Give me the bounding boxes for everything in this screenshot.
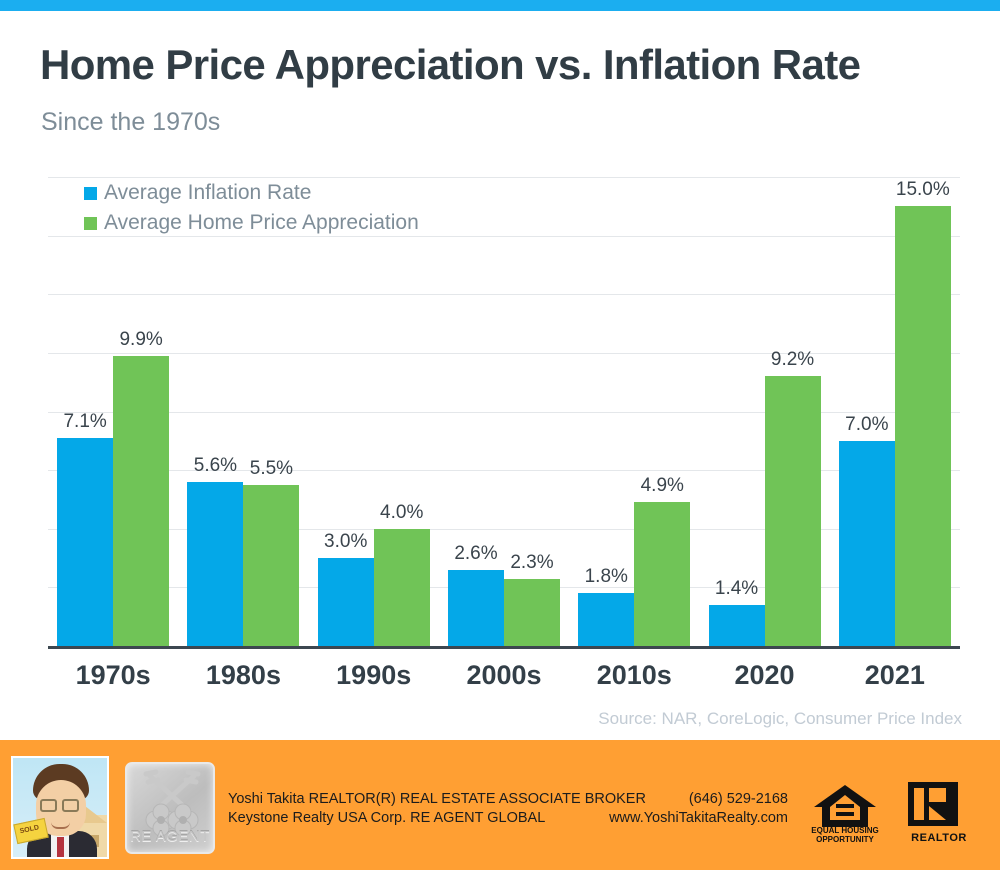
bar-value-label: 15.0%	[896, 179, 950, 201]
chart-source-note: Source: NAR, CoreLogic, Consumer Price I…	[598, 709, 962, 729]
bar-value-label: 1.4%	[715, 578, 758, 600]
agent-avatar: SOLD	[11, 756, 109, 859]
bar-value-label: 9.2%	[771, 349, 814, 371]
bar-1990s-inflation[interactable]: 3.0%	[318, 177, 374, 646]
x-axis-label-2000s: 2000s	[439, 660, 569, 691]
equal-housing-house-icon	[810, 782, 880, 830]
bar-rect	[709, 605, 765, 646]
bar-1980s-inflation[interactable]: 5.6%	[187, 177, 243, 646]
bar-value-label: 2.3%	[510, 552, 553, 574]
chart-baseline-axis	[48, 646, 960, 649]
legend-swatch-icon	[84, 217, 97, 230]
bar-2021-inflation[interactable]: 7.0%	[839, 177, 895, 646]
bar-2021-hpa[interactable]: 15.0%	[895, 177, 951, 646]
page-title: Home Price Appreciation vs. Inflation Ra…	[40, 41, 860, 89]
bar-2020-inflation[interactable]: 1.4%	[709, 177, 765, 646]
legend-label: Average Home Price Appreciation	[104, 211, 419, 235]
legend-item-1[interactable]: Average Home Price Appreciation	[84, 208, 419, 238]
avatar-tie	[57, 837, 64, 857]
bar-1990s-hpa[interactable]: 4.0%	[374, 177, 430, 646]
agent-name-title: Yoshi Takita REALTOR(R) REAL ESTATE ASSO…	[228, 790, 646, 809]
bar-rect	[839, 441, 895, 646]
chart-bar-groups: 7.1%9.9%5.6%5.5%3.0%4.0%2.6%2.3%1.8%4.9%…	[48, 177, 960, 646]
x-axis-label-2010s: 2010s	[569, 660, 699, 691]
bar-rect	[318, 558, 374, 646]
chart-x-axis: 1970s1980s1990s2000s2010s20202021	[48, 660, 960, 691]
bar-group-2000s: 2.6%2.3%	[439, 177, 569, 646]
bar-value-label: 3.0%	[324, 531, 367, 553]
bar-value-label: 4.9%	[641, 475, 684, 497]
realtor-r-icon	[908, 782, 958, 828]
bar-rect	[374, 529, 430, 646]
bar-2010s-inflation[interactable]: 1.8%	[578, 177, 634, 646]
top-accent-bar	[0, 0, 1000, 11]
chart-legend: Average Inflation RateAverage Home Price…	[84, 178, 419, 238]
legend-item-0[interactable]: Average Inflation Rate	[84, 178, 419, 208]
bar-rect	[243, 485, 299, 646]
agent-phone[interactable]: (646) 529-2168	[689, 790, 788, 809]
page-subtitle: Since the 1970s	[41, 108, 220, 137]
bar-group-1990s: 3.0%4.0%	[309, 177, 439, 646]
infographic-page: Home Price Appreciation vs. Inflation Ra…	[0, 0, 1000, 870]
bar-rect	[765, 376, 821, 646]
bar-group-2021: 7.0%15.0%	[830, 177, 960, 646]
bar-value-label: 2.6%	[454, 543, 497, 565]
x-axis-label-2021: 2021	[830, 660, 960, 691]
bar-value-label: 7.1%	[63, 411, 106, 433]
re-agent-logo: RE AGENT	[125, 762, 215, 854]
bar-value-label: 7.0%	[845, 414, 888, 436]
agent-brokerage: Keystone Realty USA Corp. RE AGENT GLOBA…	[228, 809, 545, 828]
bar-value-label: 5.5%	[250, 458, 293, 480]
bar-rect	[187, 482, 243, 646]
bar-group-2020: 1.4%9.2%	[699, 177, 829, 646]
sold-sign-label: SOLD	[19, 824, 39, 835]
x-axis-label-1990s: 1990s	[309, 660, 439, 691]
bar-group-2010s: 1.8%4.9%	[569, 177, 699, 646]
bar-rect	[57, 438, 113, 646]
agent-contact-info: Yoshi Takita REALTOR(R) REAL ESTATE ASSO…	[228, 790, 788, 828]
equal-housing-opportunity-logo: EQUAL HOUSING OPPORTUNITY	[810, 782, 880, 844]
bar-1970s-hpa[interactable]: 9.9%	[113, 177, 169, 646]
legend-label: Average Inflation Rate	[104, 181, 311, 205]
bar-value-label: 5.6%	[194, 455, 237, 477]
equal-housing-caption: EQUAL HOUSING OPPORTUNITY	[810, 826, 880, 844]
bar-rect	[504, 579, 560, 646]
bar-value-label: 4.0%	[380, 502, 423, 524]
bar-2000s-hpa[interactable]: 2.3%	[504, 177, 560, 646]
bar-1970s-inflation[interactable]: 7.1%	[57, 177, 113, 646]
x-axis-label-1970s: 1970s	[48, 660, 178, 691]
bar-1980s-hpa[interactable]: 5.5%	[243, 177, 299, 646]
bar-rect	[895, 206, 951, 646]
legend-swatch-icon	[84, 187, 97, 200]
bar-value-label: 9.9%	[119, 329, 162, 351]
bar-group-1980s: 5.6%5.5%	[178, 177, 308, 646]
bar-2000s-inflation[interactable]: 2.6%	[448, 177, 504, 646]
bar-2010s-hpa[interactable]: 4.9%	[634, 177, 690, 646]
bar-rect	[448, 570, 504, 646]
bar-rect	[634, 502, 690, 646]
bar-group-1970s: 7.1%9.9%	[48, 177, 178, 646]
bar-rect	[113, 356, 169, 646]
avatar-glasses-right-icon	[62, 799, 79, 812]
avatar-glasses-left-icon	[40, 799, 57, 812]
realtor-caption: REALTOR	[908, 832, 970, 844]
re-agent-logo-label: RE AGENT	[127, 828, 213, 845]
bar-rect	[578, 593, 634, 646]
bar-2020-hpa[interactable]: 9.2%	[765, 177, 821, 646]
agent-website[interactable]: www.YoshiTakitaRealty.com	[609, 809, 788, 828]
bar-value-label: 1.8%	[585, 566, 628, 588]
x-axis-label-1980s: 1980s	[178, 660, 308, 691]
x-axis-label-2020: 2020	[699, 660, 829, 691]
realtor-logo: REALTOR	[908, 782, 970, 844]
